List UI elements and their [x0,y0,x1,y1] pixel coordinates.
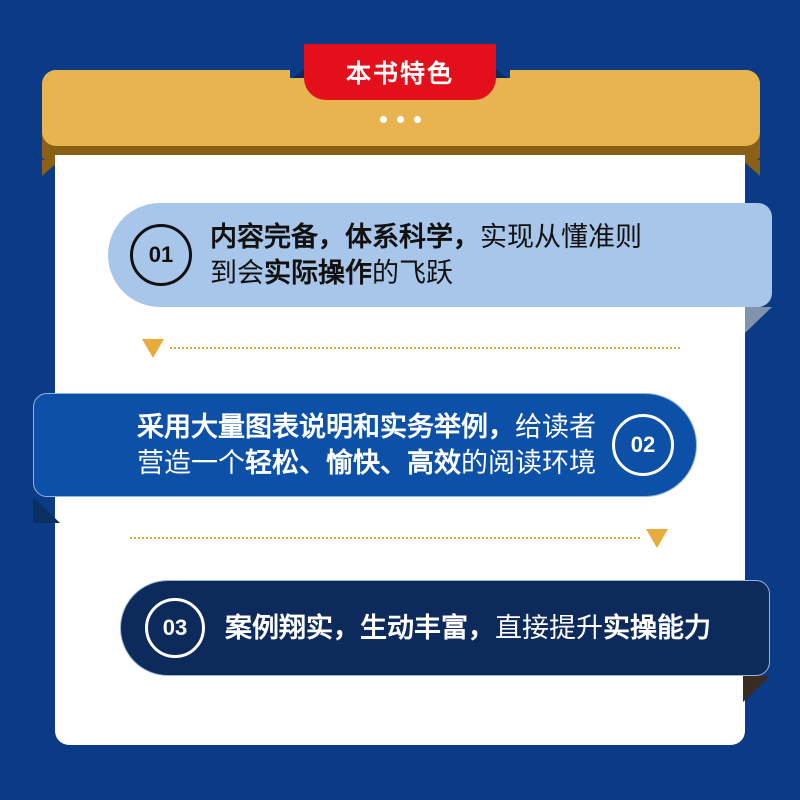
feature-text-03: 案例翔实，生动丰富，直接提升实操能力 [225,610,711,646]
card-fold-shadow-2 [33,497,60,523]
divider-1 [142,336,680,360]
feature-text-02: 采用大量图表说明和实务举例，给读者营造一个轻松、愉快、高效的阅读环境 [137,409,596,482]
title-ribbon: 本书特色 [304,44,496,100]
feature-number-badge-03: 03 [145,598,205,658]
feature-text-01: 内容完备，体系科学，实现从懂准则到会实际操作的飞跃 [210,219,642,292]
dot-icon [397,116,404,123]
feature-card-03[interactable]: 03 案例翔实，生动丰富，直接提升实操能力 [120,580,770,676]
dot-icon [414,116,421,123]
dashed-line [130,537,640,539]
dashed-line [170,347,680,349]
feature-number-badge-01: 01 [130,224,192,286]
dot-icon [380,116,387,123]
divider-2 [130,526,668,550]
feature-card-01[interactable]: 01 内容完备，体系科学，实现从懂准则到会实际操作的飞跃 [108,203,772,307]
banner-dots [0,116,800,123]
feature-card-02[interactable]: 02 采用大量图表说明和实务举例，给读者营造一个轻松、愉快、高效的阅读环境 [33,393,697,497]
feature-number-badge-02: 02 [612,414,674,476]
ribbon-title-label: 本书特色 [346,58,454,87]
triangle-down-icon [142,339,164,358]
poster-root: 本书特色 01 内容完备，体系科学，实现从懂准则到会实际操作的飞跃 02 采用大… [0,0,800,800]
card-fold-shadow-1 [745,307,772,333]
card-fold-shadow-3 [743,676,770,702]
triangle-down-icon [646,529,668,548]
